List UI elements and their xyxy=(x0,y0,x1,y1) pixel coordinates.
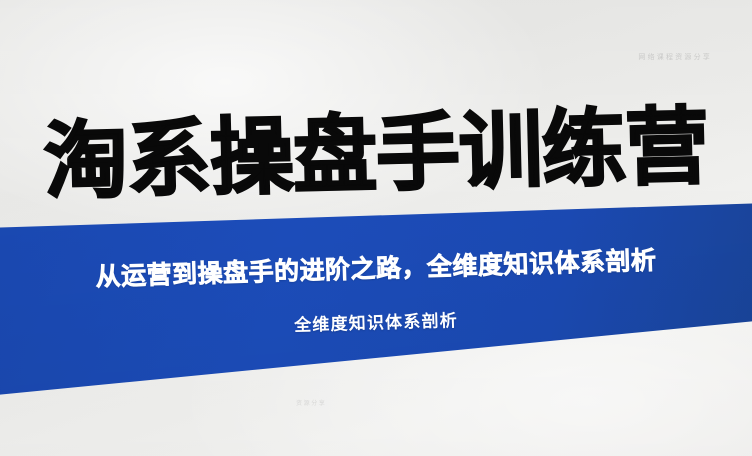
page-title: 淘系操盘手训练营 xyxy=(43,104,709,204)
course-poster: 网络课程资源分享 淘系操盘手训练营 从运营到操盘手的进阶之路，全维度知识体系剖析… xyxy=(0,0,752,456)
banner-sheen xyxy=(0,0,752,456)
blue-diagonal-banner xyxy=(0,0,752,456)
watermark-top-right: 网络课程资源分享 xyxy=(638,52,712,62)
watermark-bottom-center: 资源分享 xyxy=(296,398,326,407)
